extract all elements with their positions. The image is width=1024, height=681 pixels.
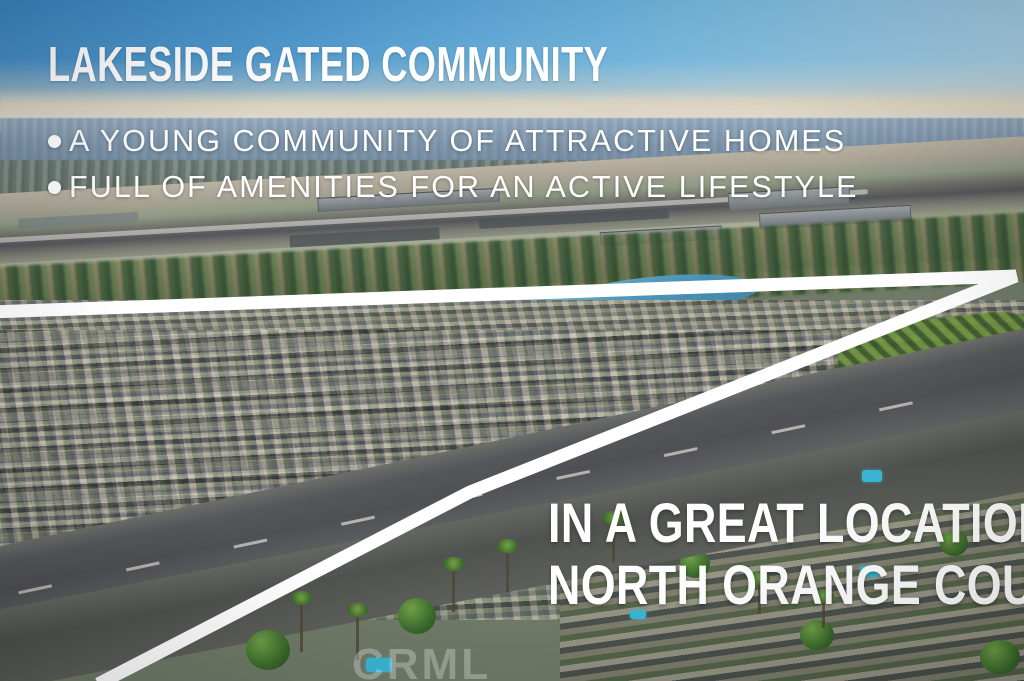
bullet-dot-icon	[48, 181, 61, 194]
street-tree	[398, 598, 436, 634]
palm-tree	[506, 548, 509, 592]
palm-tree	[300, 600, 303, 652]
backyard-pool	[862, 470, 882, 482]
bullet-text: FULL OF AMENITIES FOR AN ACTIVE LIFESTYL…	[69, 164, 859, 210]
list-item: FULL OF AMENITIES FOR AN ACTIVE LIFESTYL…	[48, 164, 871, 210]
mls-watermark: CRML	[352, 642, 491, 681]
page-title: LAKESIDE GATED COMMUNITY	[48, 40, 608, 90]
bullet-text: A YOUNG COMMUNITY OF ATTRACTIVE HOMES	[69, 118, 846, 164]
feature-bullet-list: A YOUNG COMMUNITY OF ATTRACTIVE HOMES FU…	[48, 118, 871, 210]
listing-photo: LAKESIDE GATED COMMUNITY A YOUNG COMMUNI…	[0, 0, 1024, 681]
location-caption-line1: IN A GREAT LOCATION OF	[548, 492, 1024, 554]
location-caption: IN A GREAT LOCATION OF NORTH ORANGE COUN…	[548, 492, 1024, 616]
street-tree	[246, 630, 290, 670]
bullet-dot-icon	[48, 135, 61, 148]
palm-tree	[452, 566, 455, 612]
list-item: A YOUNG COMMUNITY OF ATTRACTIVE HOMES	[48, 118, 871, 164]
location-caption-line2: NORTH ORANGE COUNTY	[548, 554, 1024, 616]
